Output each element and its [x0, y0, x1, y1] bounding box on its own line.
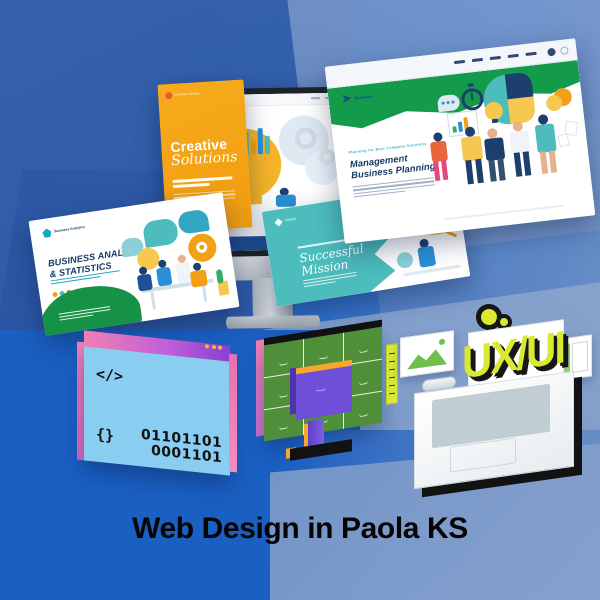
window-dot-2-icon[interactable]: [212, 345, 216, 349]
card-management-planning: Business Planning for Best Company Solut…: [325, 38, 596, 243]
drawer-handle-1[interactable]: [279, 362, 288, 366]
code-window-edge-right: [229, 354, 237, 473]
creative-logo-label: Creative Design: [174, 92, 200, 97]
browser-nav-items[interactable]: [454, 52, 537, 64]
logo-dot-icon: [165, 92, 172, 99]
creative-title-line2: Solutions: [171, 150, 238, 169]
drawer-handle-6[interactable]: [279, 426, 288, 430]
code-browser-window: </> {} 01101101 0001101: [84, 352, 230, 468]
business-logo-label: Business Analytics: [54, 225, 85, 234]
creative-card-logo: Creative Design: [165, 90, 200, 99]
nav-item-services[interactable]: [490, 56, 501, 60]
drawer-handle-5[interactable]: [359, 381, 368, 385]
chrome-button-secondary[interactable]: [560, 46, 569, 55]
management-illustration: [419, 65, 591, 228]
mission-logo-label: Mission: [285, 218, 296, 223]
ruler-tool-icon: [386, 343, 398, 405]
isometric-file-cabinet: [252, 336, 394, 468]
drawer-handle-2[interactable]: [319, 355, 328, 359]
management-card-title: Management Business Planning: [349, 149, 436, 181]
creative-subtitle-bars: [172, 176, 232, 190]
image-thumbnail-icon: [400, 330, 454, 378]
promo-graphic: Creative Design Creative Solutions Busin…: [0, 0, 600, 600]
page-title: Web Design in Paola KS: [0, 512, 600, 546]
drawer-handle-3[interactable]: [359, 349, 368, 353]
business-illustration: [116, 207, 236, 322]
nav-item-contact[interactable]: [525, 52, 536, 56]
code-tag-icon: </>: [96, 365, 123, 386]
diamond-logo-icon: [274, 218, 283, 227]
sun-icon: [439, 338, 445, 345]
drawer-handle-8[interactable]: [359, 413, 368, 417]
leaf-logo-icon: [42, 228, 52, 238]
nav-item-home[interactable]: [454, 60, 465, 64]
code-brace-icon: {}: [96, 425, 114, 445]
nav-item-pages[interactable]: [508, 54, 519, 58]
creative-card-title: Creative Solutions: [170, 136, 238, 169]
mountain-icon: [407, 344, 447, 370]
management-body-lines: [352, 177, 435, 199]
window-dot-1-icon[interactable]: [205, 344, 209, 348]
drawer-handle-4[interactable]: [279, 394, 288, 398]
nav-item-about[interactable]: [472, 58, 483, 62]
business-card-logo: Business Analytics: [42, 223, 86, 238]
management-logo-label: Business: [354, 93, 372, 100]
purple-folder[interactable]: [296, 366, 352, 421]
monitor-foot: [226, 315, 320, 329]
arrow-logo-icon: [342, 94, 352, 103]
chrome-button-primary[interactable]: [547, 47, 556, 56]
window-dot-3-icon[interactable]: [218, 345, 222, 349]
isometric-laptop: UX/UI: [404, 330, 586, 490]
